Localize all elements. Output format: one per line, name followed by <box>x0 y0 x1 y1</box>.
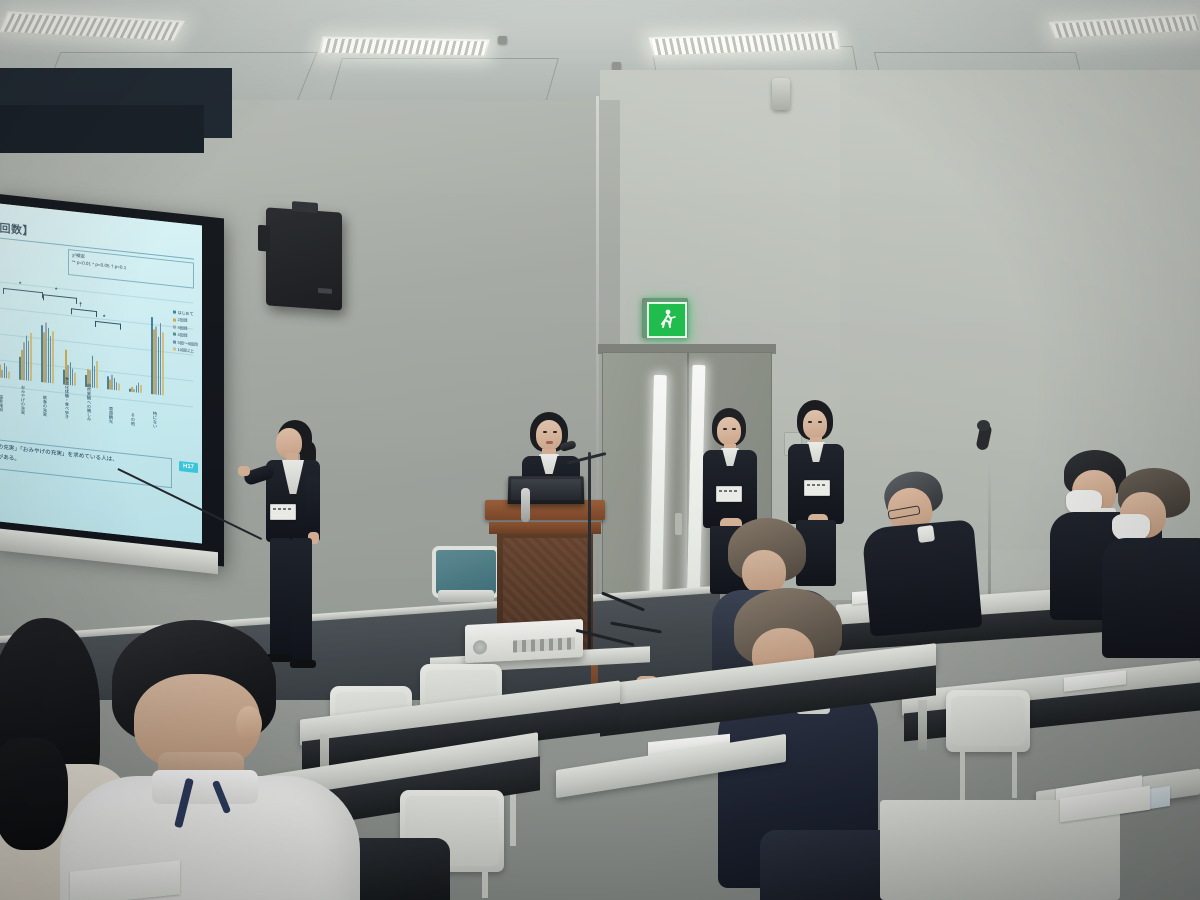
mouth <box>546 441 553 444</box>
podium-band <box>489 522 601 534</box>
bar-group: 自然景観への親しみ <box>85 355 98 388</box>
bar <box>114 378 116 390</box>
audience-member-foreground-white-shirt <box>60 620 390 900</box>
projector-lens <box>473 640 487 655</box>
shirt-collar <box>917 525 935 543</box>
legend-swatch <box>173 340 176 343</box>
podium-laptop[interactable] <box>508 476 585 504</box>
hand <box>238 466 250 476</box>
ceiling-light-panel <box>1048 14 1200 40</box>
desk-leg <box>918 700 927 750</box>
significance-mark: * <box>103 315 105 321</box>
x-axis-label: 温泉施設 <box>0 395 4 412</box>
microphone-boom <box>588 452 591 652</box>
bar <box>118 384 120 391</box>
significance-bracket <box>3 288 43 298</box>
bar-group: 温泉施設 <box>0 362 10 378</box>
significance-mark: * <box>19 282 21 288</box>
microphone-windscreen <box>521 488 530 522</box>
slide-bar-chart: * * † * 温泉施設おみやげの充実飲食の充実食文化体験・食べ歩き自然景観への… <box>0 273 193 433</box>
bar <box>158 336 160 395</box>
ceiling-light-panel <box>318 37 490 58</box>
bar <box>133 389 135 393</box>
significance-bracket <box>95 321 121 330</box>
bar <box>23 342 25 381</box>
door-handle[interactable] <box>675 513 682 535</box>
x-axis-label: おみやげの充実 <box>20 384 26 414</box>
microphone-capsule <box>977 420 990 431</box>
x-axis-label: 食文化体験・食べ歩き <box>64 377 70 420</box>
name-badge <box>804 480 830 496</box>
face <box>717 417 741 445</box>
bar <box>162 332 164 396</box>
shirt-collar <box>152 770 258 804</box>
bar <box>155 326 157 395</box>
ceiling-sensor-right <box>772 78 790 110</box>
bar <box>96 361 98 388</box>
bar <box>30 332 32 381</box>
significance-mark: * <box>55 288 57 294</box>
x-axis-label: 飲食の充実 <box>42 395 48 417</box>
teal-side-chair[interactable] <box>432 546 494 606</box>
projector-ports <box>513 637 575 652</box>
x-axis-label: 特にない <box>152 411 158 428</box>
bar-group: 食文化体験・食べ歩き <box>63 349 76 385</box>
presentation-slide: 館回数】 χ²検定 ** p<0.01 * p<0.05 † p<0.1 * *… <box>0 202 202 543</box>
bar <box>74 372 76 386</box>
ceiling-tile <box>328 58 559 106</box>
name-badge <box>716 486 742 502</box>
bar <box>4 363 6 378</box>
legend-swatch <box>173 318 176 321</box>
suit-jacket <box>1102 538 1200 658</box>
bar <box>48 328 50 383</box>
bar-group: おみやげの充実 <box>19 331 32 381</box>
ceiling-light-panel <box>0 11 185 43</box>
bar <box>8 372 10 379</box>
x-axis-label: その他 <box>130 413 136 426</box>
hair-strands <box>0 738 68 850</box>
legend-swatch <box>173 325 176 328</box>
arm <box>306 474 319 538</box>
audience-member-masked-right <box>1108 468 1200 658</box>
conference-room-photo: 館回数】 χ²検定 ** p<0.01 * p<0.05 † p<0.1 * *… <box>0 0 1200 900</box>
projector <box>465 619 583 663</box>
bar <box>136 386 138 393</box>
bar <box>26 335 28 380</box>
face <box>536 420 562 450</box>
slide-page-badge: H17 <box>179 461 198 473</box>
bar <box>52 332 54 384</box>
bar <box>45 323 47 383</box>
bar-group: その他 <box>129 382 142 393</box>
ear <box>236 706 262 742</box>
face <box>803 410 827 439</box>
eye <box>553 431 557 433</box>
x-axis-label: 周遊観光 <box>108 407 114 424</box>
projection-screen: 館回数】 χ²検定 ** p<0.01 * p<0.05 † p<0.1 * *… <box>0 202 202 543</box>
legend-swatch <box>173 347 176 350</box>
bar <box>1 369 3 378</box>
ceiling-sensor <box>498 36 507 44</box>
bar-group: 飲食の充実 <box>41 322 54 383</box>
bar <box>140 384 142 393</box>
bar-group: 周遊観光 <box>107 374 120 390</box>
eye <box>543 431 547 433</box>
emergency-exit-sign <box>642 298 688 338</box>
name-badge <box>270 504 296 520</box>
running-man-icon <box>657 308 677 332</box>
legend-swatch <box>173 333 176 336</box>
significance-bracket <box>43 294 77 304</box>
significance-mark: † <box>79 302 82 308</box>
legend-swatch <box>173 311 176 314</box>
bar <box>111 375 113 390</box>
slide-title: 館回数】 <box>0 218 34 239</box>
screen-recess-soffit-inner <box>0 105 204 153</box>
ceiling-sensor <box>612 62 621 70</box>
bar-group: 特にない <box>151 317 164 395</box>
wall-speaker <box>266 207 342 310</box>
x-axis-label: 自然景観への親しみ <box>86 383 92 421</box>
chart-legend: はじめて2回目3回目4回目5回～9回目10回以上 <box>173 308 198 355</box>
